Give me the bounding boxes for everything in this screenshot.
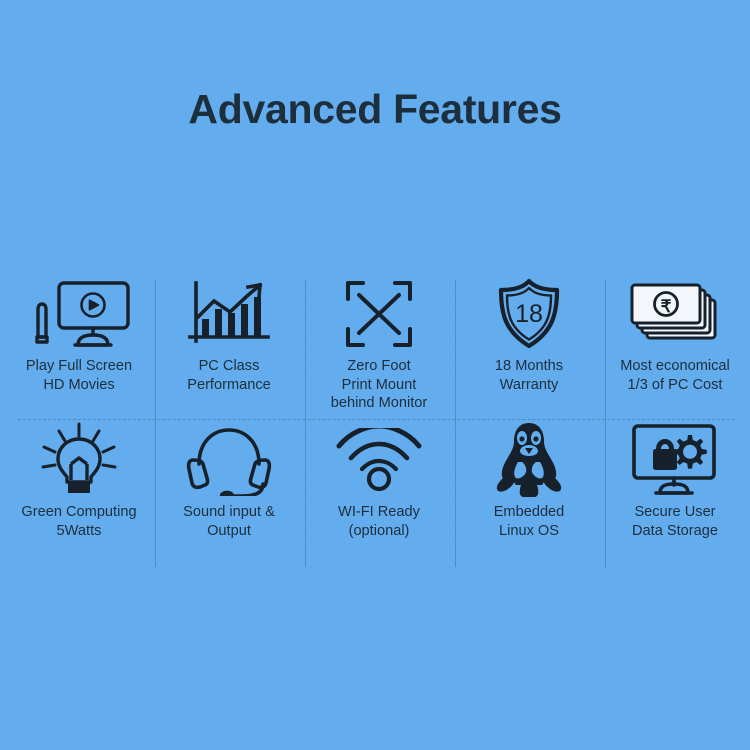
warranty-badge-number: 18 bbox=[515, 300, 543, 328]
grid-divider-vertical-6 bbox=[305, 282, 306, 567]
feature-item-play-full-screen[interactable]: Play Full Screen HD Movies bbox=[4, 276, 154, 422]
grid-divider-horizontal bbox=[18, 419, 735, 420]
grid-divider-vertical-5 bbox=[155, 282, 156, 567]
page-title: Advanced Features bbox=[0, 86, 750, 133]
feature-label: 18 Months Warranty bbox=[495, 357, 563, 394]
linux-penguin-icon bbox=[491, 422, 567, 498]
grid-divider-vertical-8 bbox=[605, 282, 606, 567]
feature-item-wifi-ready[interactable]: WI-FI Ready (optional) bbox=[304, 422, 454, 568]
feature-label: WI-FI Ready (optional) bbox=[338, 503, 420, 540]
bar-chart-growth-icon bbox=[184, 276, 274, 352]
rupee-symbol: ₹ bbox=[661, 297, 672, 316]
feature-item-zero-foot-print[interactable]: Zero Foot Print Mount behind Monitor bbox=[304, 276, 454, 422]
advanced-features-page: Advanced Features bbox=[0, 0, 750, 750]
feature-label: PC Class Performance bbox=[187, 357, 271, 394]
feature-row-2: Green Computing 5Watts Sound bbox=[4, 422, 746, 568]
feature-label: Embedded Linux OS bbox=[494, 503, 565, 540]
feature-item-warranty[interactable]: 18 18 Months Warranty bbox=[454, 276, 604, 422]
feature-label: Play Full Screen HD Movies bbox=[26, 357, 132, 394]
feature-item-most-economical[interactable]: ₹ Most economical 1/3 of PC Cost bbox=[604, 276, 746, 422]
feature-row-1: Play Full Screen HD Movies bbox=[4, 276, 746, 422]
monitor-lock-gear-icon bbox=[626, 422, 724, 498]
feature-grid: Play Full Screen HD Movies bbox=[4, 276, 746, 568]
feature-item-green-computing[interactable]: Green Computing 5Watts bbox=[4, 422, 154, 568]
wifi-icon bbox=[333, 422, 425, 498]
monitor-play-icon bbox=[26, 276, 132, 352]
feature-label: Green Computing 5Watts bbox=[21, 503, 136, 540]
feature-label: Most economical 1/3 of PC Cost bbox=[620, 357, 730, 394]
headset-icon bbox=[183, 422, 275, 498]
feature-item-secure-storage[interactable]: Secure User Data Storage bbox=[604, 422, 746, 568]
grid-divider-vertical-7 bbox=[455, 282, 456, 567]
feature-label: Sound input & Output bbox=[183, 503, 275, 540]
bracket-x-icon bbox=[339, 276, 419, 352]
feature-item-embedded-linux[interactable]: Embedded Linux OS bbox=[454, 422, 604, 568]
light-bulb-icon bbox=[35, 422, 123, 498]
feature-item-sound-io[interactable]: Sound input & Output bbox=[154, 422, 304, 568]
shield-18-icon: 18 bbox=[492, 276, 566, 352]
feature-label: Secure User Data Storage bbox=[632, 503, 718, 540]
feature-item-pc-class-performance[interactable]: PC Class Performance bbox=[154, 276, 304, 422]
rupee-banknotes-icon: ₹ bbox=[625, 276, 725, 352]
feature-label: Zero Foot Print Mount behind Monitor bbox=[331, 357, 428, 413]
